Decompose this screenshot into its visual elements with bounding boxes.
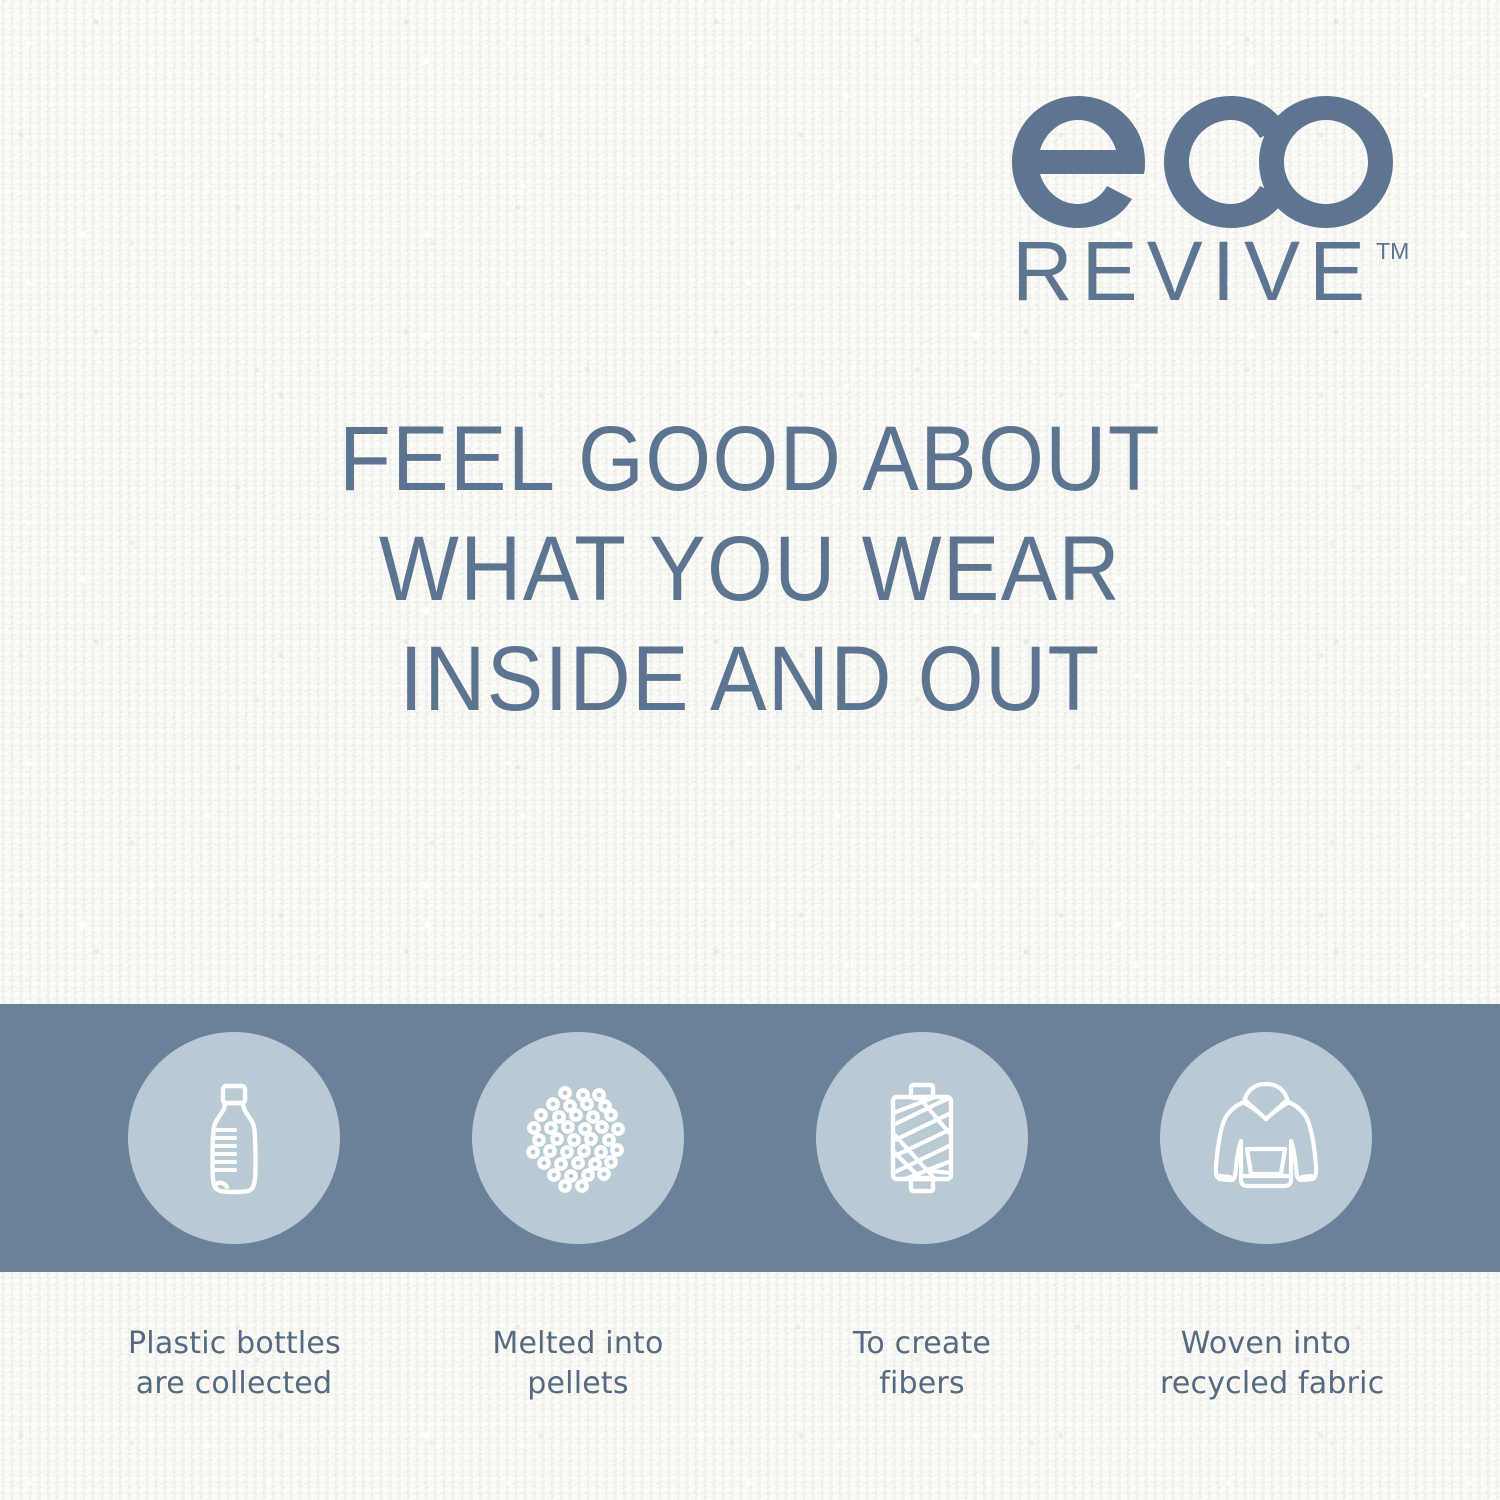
caption-line: Melted into (472, 1324, 684, 1364)
caption-line: are collected (128, 1364, 340, 1404)
eco-logomark-icon (1012, 96, 1422, 228)
brand-logo: REVIVE TM (1012, 96, 1442, 312)
caption-line: Plastic bottles (128, 1324, 340, 1364)
process-step-3-circle (816, 1032, 1028, 1244)
process-icon-band (0, 1004, 1500, 1272)
process-step-1-caption: Plastic bottles are collected (128, 1324, 340, 1404)
plastic-bottle-icon (169, 1073, 299, 1203)
process-step-4-circle (1160, 1032, 1372, 1244)
caption-line: fibers (816, 1364, 1028, 1404)
caption-line: pellets (472, 1364, 684, 1404)
hoodie-icon (1199, 1071, 1333, 1205)
trademark-symbol: TM (1376, 238, 1409, 265)
pellets-icon (513, 1073, 643, 1203)
headline-line-3: INSIDE AND OUT (60, 624, 1440, 734)
brand-wordmark: REVIVE (1012, 232, 1374, 312)
poster-canvas: REVIVE TM FEEL GOOD ABOUT WHAT YOU WEAR … (0, 0, 1500, 1500)
caption-line: To create (816, 1324, 1028, 1364)
headline-line-1: FEEL GOOD ABOUT (60, 404, 1440, 514)
headline: FEEL GOOD ABOUT WHAT YOU WEAR INSIDE AND… (0, 404, 1500, 734)
process-step-1-circle (128, 1032, 340, 1244)
caption-line: recycled fabric (1160, 1364, 1372, 1404)
process-step-2-circle (472, 1032, 684, 1244)
thread-spool-icon (857, 1073, 987, 1203)
process-step-2-caption: Melted into pellets (472, 1324, 684, 1404)
headline-line-2: WHAT YOU WEAR (60, 514, 1440, 624)
process-step-4-caption: Woven into recycled fabric (1160, 1324, 1372, 1404)
process-captions: Plastic bottles are collected Melted int… (0, 1324, 1500, 1404)
caption-line: Woven into (1160, 1324, 1372, 1364)
process-step-3-caption: To create fibers (816, 1324, 1028, 1404)
